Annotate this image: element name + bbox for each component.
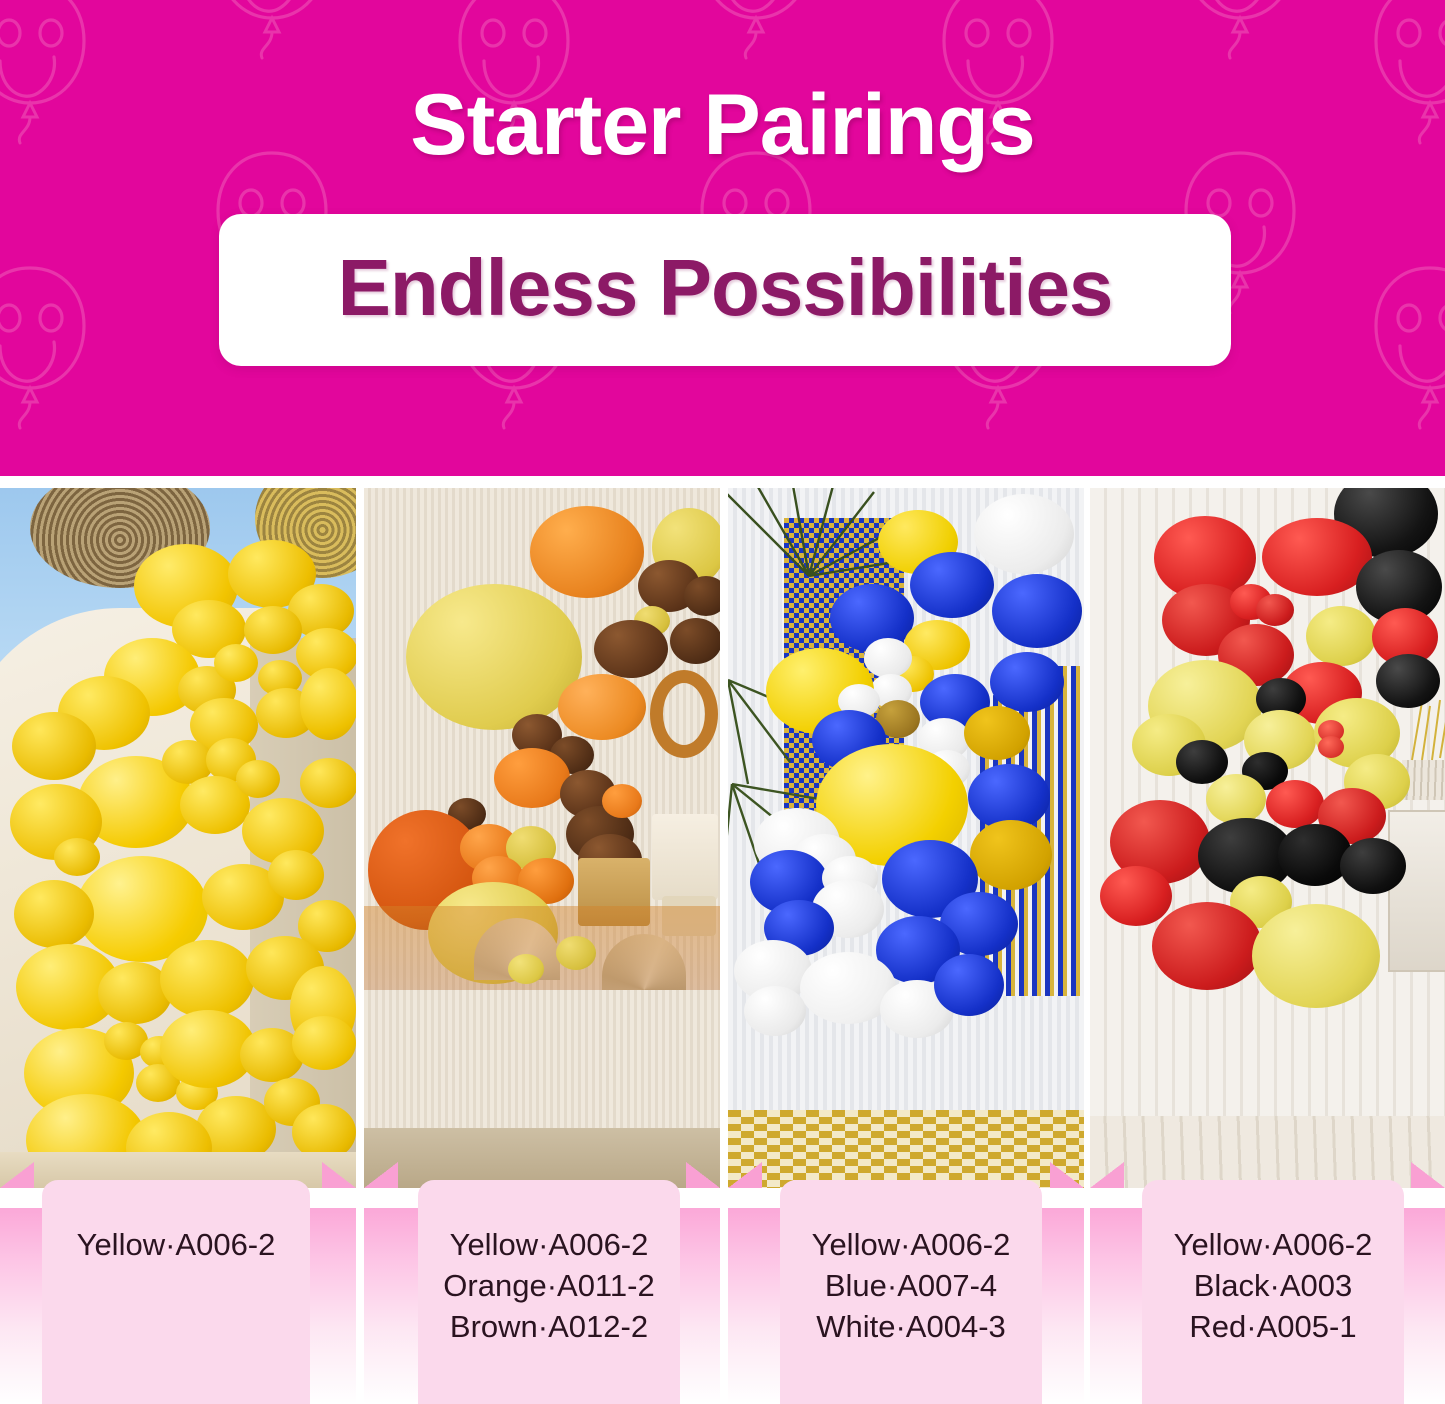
scene-red-yellow-black-garland bbox=[1090, 488, 1445, 1188]
color-code-line: Blue·A007-4 bbox=[780, 1265, 1042, 1306]
photo-panel-4 bbox=[1090, 488, 1445, 1188]
photo-strip bbox=[0, 488, 1445, 1188]
color-code-line: Orange·A011-2 bbox=[418, 1265, 680, 1306]
subtitle-text: Endless Possibilities bbox=[338, 242, 1113, 334]
scene-autumn-garland bbox=[364, 488, 720, 1188]
corner-accent-left bbox=[0, 1162, 34, 1188]
photo-panel-2 bbox=[364, 488, 720, 1188]
scene-blue-yellow-white-garland bbox=[728, 488, 1084, 1188]
color-code-line: Yellow·A006-2 bbox=[780, 1224, 1042, 1265]
color-code-line: Red·A005-1 bbox=[1142, 1306, 1404, 1347]
color-code-line: White·A004-3 bbox=[780, 1306, 1042, 1347]
header-banner: Starter Pairings Endless Possibilities bbox=[0, 0, 1445, 476]
page-title: Starter Pairings bbox=[0, 76, 1445, 175]
color-code-line: Yellow·A006-2 bbox=[42, 1224, 310, 1265]
subtitle-banner: Endless Possibilities bbox=[219, 214, 1231, 366]
color-card-1: Yellow·A006-2 bbox=[42, 1180, 310, 1404]
color-code-line: Yellow·A006-2 bbox=[1142, 1224, 1404, 1265]
photo-panel-3 bbox=[728, 488, 1084, 1188]
color-card-2: Yellow·A006-2 Orange·A011-2 Brown·A012-2 bbox=[418, 1180, 680, 1404]
color-code-line: Black·A003 bbox=[1142, 1265, 1404, 1306]
color-card-3: Yellow·A006-2 Blue·A007-4 White·A004-3 bbox=[780, 1180, 1042, 1404]
corner-accent-right bbox=[1411, 1162, 1445, 1188]
corner-accent-left bbox=[1090, 1162, 1124, 1188]
color-card-4: Yellow·A006-2 Black·A003 Red·A005-1 bbox=[1142, 1180, 1404, 1404]
color-code-line: Brown·A012-2 bbox=[418, 1306, 680, 1347]
corner-accent-left bbox=[364, 1162, 398, 1188]
corner-accent-right bbox=[686, 1162, 720, 1188]
corner-accent-right bbox=[1050, 1162, 1084, 1188]
scene-yellow-garland bbox=[0, 488, 356, 1188]
corner-accent-right bbox=[322, 1162, 356, 1188]
color-code-line: Yellow·A006-2 bbox=[418, 1224, 680, 1265]
corner-accent-left bbox=[728, 1162, 762, 1188]
photo-panel-1 bbox=[0, 488, 356, 1188]
